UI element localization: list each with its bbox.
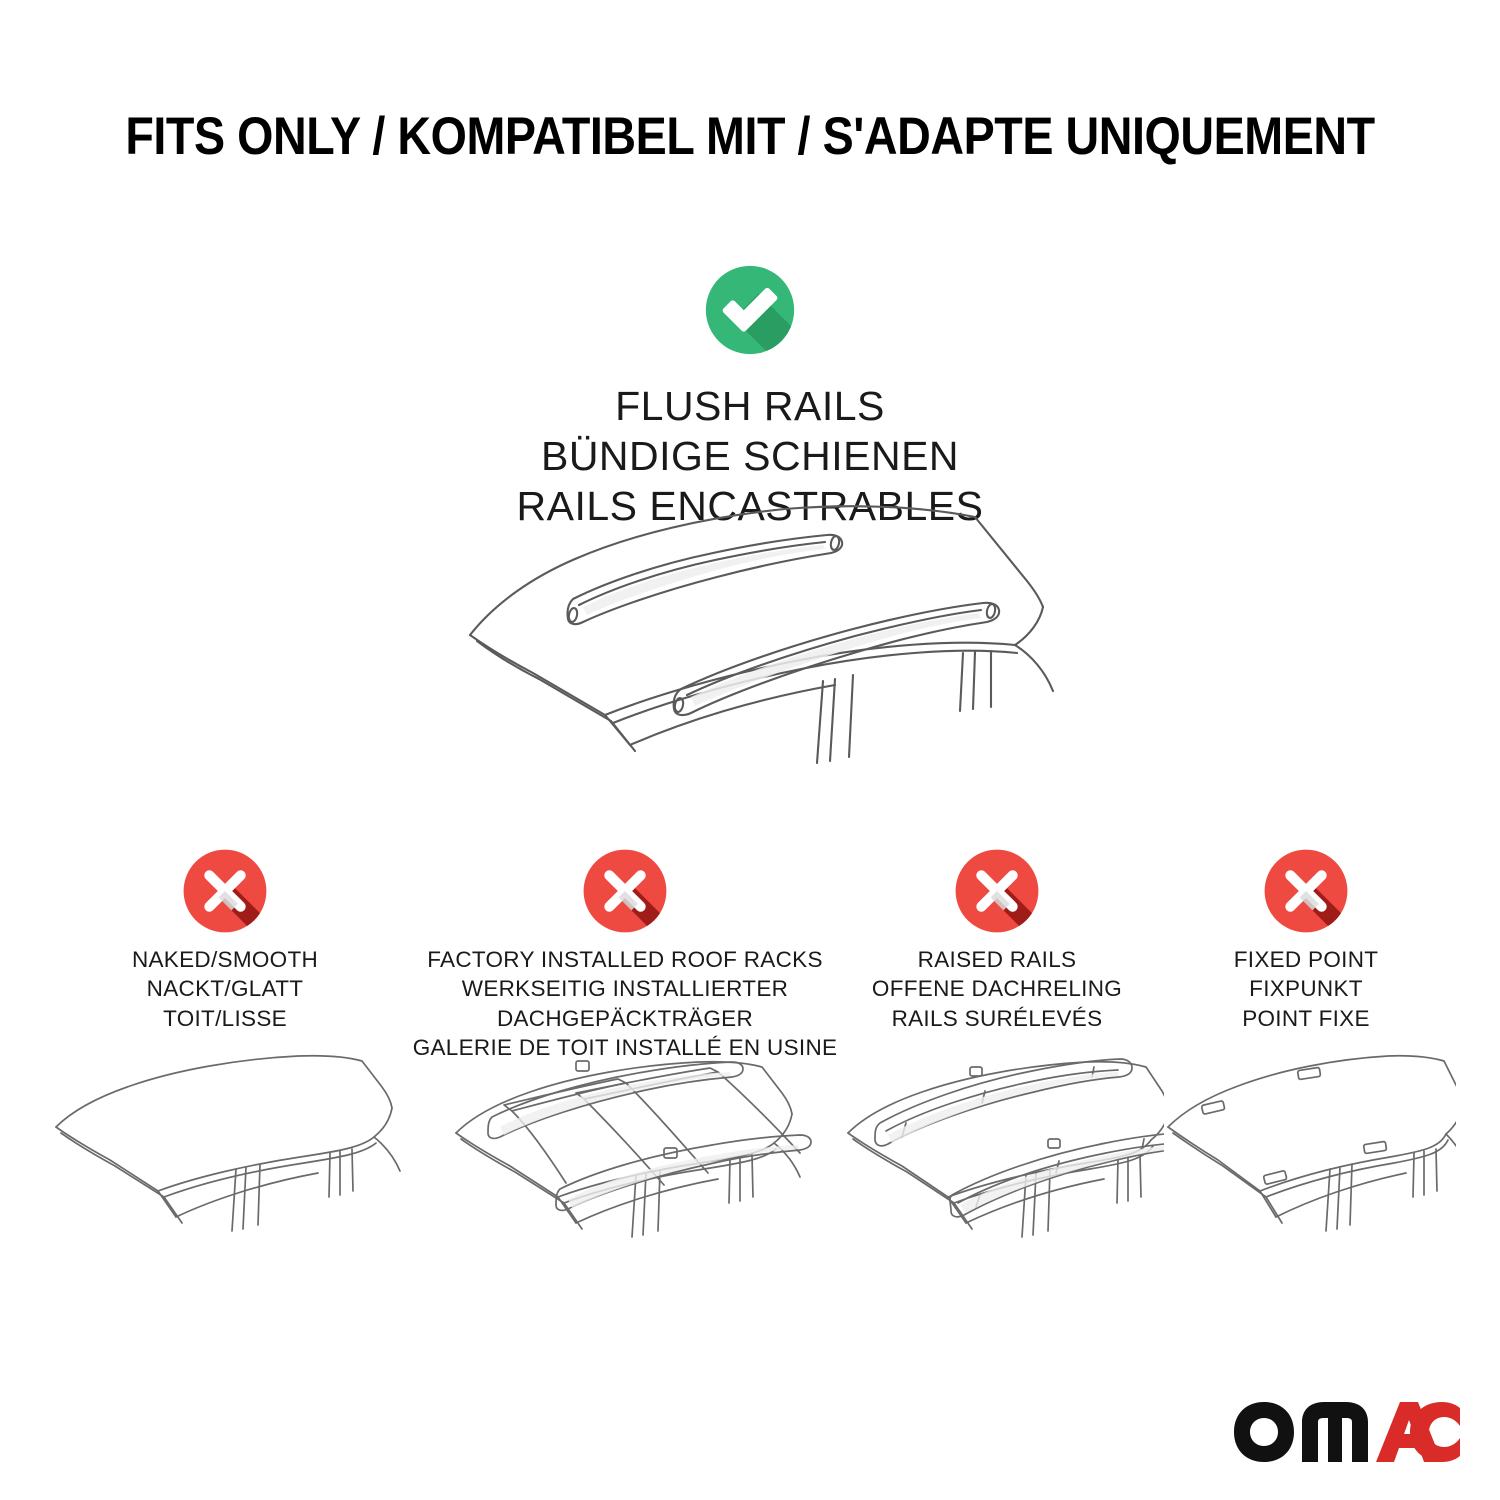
excluded-column-fixed-point: FIXED POINT FIXPUNKT POINT FIXE [1156,845,1456,1033]
excluded-label-line: WERKSEITIG INSTALLIERTER [408,974,842,1003]
excluded-label-line: FACTORY INSTALLED ROOF RACKS [408,945,842,974]
excluded-label-line: RAILS SURÉLEVÉS [830,1004,1164,1033]
omac-logo [1230,1400,1462,1464]
excluded-label-line: POINT FIXE [1156,1004,1456,1033]
excluded-label-naked-smooth: NAKED/SMOOTH NACKT/GLATT TOIT/LISSE [48,945,402,1033]
cross-circle-icon [830,845,1164,937]
approved-label-line-1: FLUSH RAILS [0,381,1500,431]
car-roof-factory-roof-racks-illustration [408,1045,842,1275]
approved-section: FLUSH RAILS BÜNDIGE SCHIENEN RAILS ENCAS… [0,262,1500,531]
excluded-label-raised-rails: RAISED RAILS OFFENE DACHRELING RAILS SUR… [830,945,1164,1033]
cross-circle-icon [408,845,842,937]
car-roof-with-flush-rails-illustration [455,495,1055,795]
excluded-label-line: DACHGEPÄCKTRÄGER [408,1004,842,1033]
excluded-label-line: NAKED/SMOOTH [48,945,402,974]
excluded-label-line: TOIT/LISSE [48,1004,402,1033]
infographic-page: FITS ONLY / KOMPATIBEL MIT / S'ADAPTE UN… [0,0,1500,1500]
excluded-column-naked-smooth: NAKED/SMOOTH NACKT/GLATT TOIT/LISSE [48,845,402,1033]
excluded-label-line: NACKT/GLATT [48,974,402,1003]
excluded-column-raised-rails: RAISED RAILS OFFENE DACHRELING RAILS SUR… [830,845,1164,1033]
cross-circle-icon [1156,845,1456,937]
approved-label-line-2: BÜNDIGE SCHIENEN [0,431,1500,481]
excluded-column-factory-roof-racks: FACTORY INSTALLED ROOF RACKS WERKSEITIG … [408,845,842,1062]
cross-circle-icon [48,845,402,937]
excluded-label-line: OFFENE DACHRELING [830,974,1164,1003]
excluded-label-fixed-point: FIXED POINT FIXPUNKT POINT FIXE [1156,945,1456,1033]
page-title: FITS ONLY / KOMPATIBEL MIT / S'ADAPTE UN… [90,106,1410,167]
excluded-label-line: RAISED RAILS [830,945,1164,974]
excluded-label-line: FIXPUNKT [1156,974,1456,1003]
check-circle-icon [702,262,798,358]
car-roof-raised-rails-illustration [830,1045,1164,1275]
car-roof-naked-smooth-illustration [48,1045,402,1275]
excluded-label-line: FIXED POINT [1156,945,1456,974]
car-roof-fixed-point-illustration [1156,1045,1456,1275]
excluded-section: NAKED/SMOOTH NACKT/GLATT TOIT/LISSE [0,845,1500,1305]
